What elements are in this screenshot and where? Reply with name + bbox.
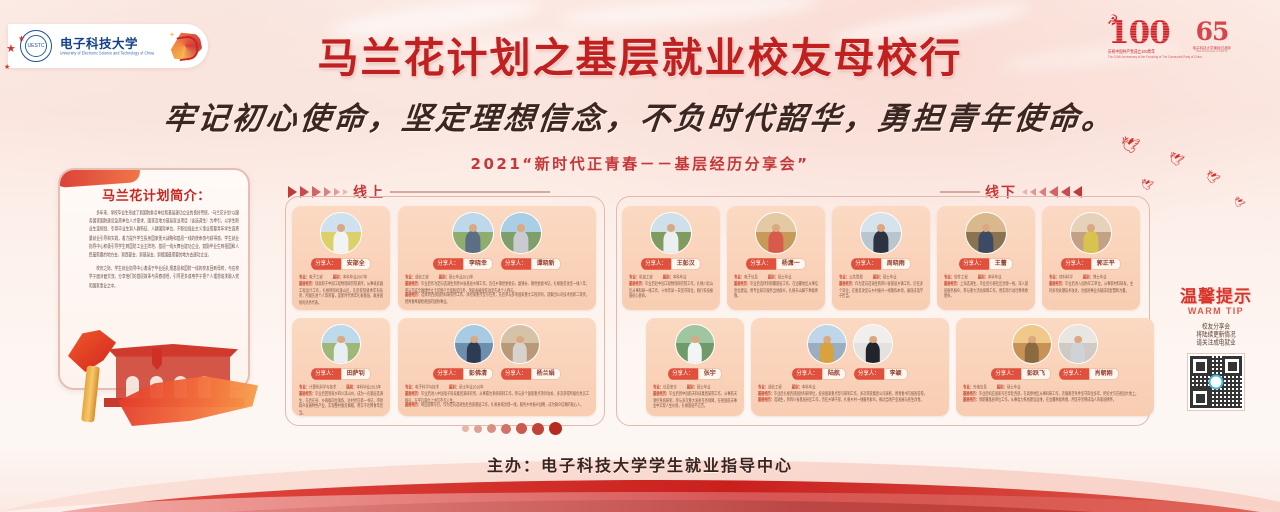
sharer-badge: 分享人： 杨兰娟 <box>501 368 561 380</box>
avatar-head-shape <box>982 224 990 232</box>
avatar-head-shape <box>869 336 877 344</box>
torch-handle-shape <box>81 365 100 422</box>
poster-main-title: 马兰花计划之基层就业校友母校行 <box>0 24 1280 84</box>
sharer-badge: 分享人： 肖朝刚 <box>1059 368 1119 380</box>
avatar-head-shape <box>337 336 345 344</box>
meta-major: 专业：电子科学与技术 <box>405 383 439 390</box>
meta-major: 专业：光电信息 <box>963 383 987 390</box>
qr-code[interactable] <box>1187 353 1245 411</box>
card-paragraph: 基层经历：现就职于中国工程物理研究院某所，从事核武器工程设计工作，扎根绵阳梓潼山… <box>299 281 383 306</box>
plan-introduction-body: 多年来，学校毕业生形成了到国防重点单位和基层建功立业的良好传统，“马兰花计划”以… <box>89 209 239 290</box>
card-body: 基层经历：毕业后回到家乡四川凉山州，成为一名基层选调生，先后在县、乡两级岗位锻炼… <box>297 391 385 409</box>
avatar-person-shape <box>663 231 678 253</box>
avatar <box>755 212 797 254</box>
sharer-badge: 分享人： 李颖 <box>854 368 908 380</box>
star-icon: ★ <box>18 33 25 44</box>
avatar-head-shape <box>1087 224 1095 232</box>
warm-tip-title-en: WARM TIP <box>1160 306 1272 316</box>
sharer-badge-tag: 分享人： <box>1061 258 1091 270</box>
avatar-person-shape <box>513 342 527 363</box>
sharer-badge-tag: 分享人： <box>991 368 1021 380</box>
sharer-badge-tag: 分享人： <box>501 258 531 270</box>
badge-list: 分享人： 安部全 <box>297 258 385 270</box>
warm-tip-line: 请关注成电就业 <box>1160 338 1272 348</box>
sharer-badge: 分享人： 田萨钊 <box>311 368 371 380</box>
avatar-head-shape <box>877 224 885 232</box>
avatar-person-shape <box>768 231 783 253</box>
meta-year: 届别：本科毕业2007年 <box>333 273 368 280</box>
qr-finder-icon <box>1190 356 1210 376</box>
share-card[interactable]: 分享人： 彭佛清 分享人： 杨兰娟 专业：电子科学与技术 届别：硕士毕业2016… <box>398 318 596 416</box>
warm-tip-lines: 校友分享会 将陆续更新情况 请关注成电就业 <box>1160 323 1272 347</box>
sharer-badge: 分享人： 安部全 <box>311 258 371 270</box>
avatar <box>1058 324 1098 364</box>
warm-tip-title-cn: 温馨提示 <box>1160 282 1272 307</box>
badge-list: 分享人： 张宇 <box>651 368 739 380</box>
meta-year: 届别：本科毕业2015年 <box>346 383 381 390</box>
avatar-person-shape <box>1083 231 1098 253</box>
meta-major: 专业：材料科学 <box>1049 273 1073 280</box>
avatar-head-shape <box>469 224 477 232</box>
sharer-badge: 分享人： 周晓雨 <box>851 258 911 270</box>
card-body: 基层经历：毕业后赴中国工程物理研究院工作，扎根川北山区从事科研一线工作，十余年如… <box>627 281 715 295</box>
card-body: 基层经历：毕业后响应国家号召奔赴西部，在高原地区从事科研工作，克服艰苦条件坚守岗… <box>961 391 1149 402</box>
avatar-head-shape <box>470 336 478 344</box>
sharer-badge-tag: 分享人： <box>851 258 881 270</box>
avatar <box>675 324 715 364</box>
share-card[interactable]: 分享人： 田萨钊 专业：计算机科学与技术 届别：本科毕业2015年 基层经历：毕… <box>292 318 390 416</box>
online-row-1: 分享人： 安部全 专业：电子工程 届别：本科毕业2007年 基层经历：现就职于中… <box>292 206 596 310</box>
avatar <box>500 212 542 254</box>
avatar-list <box>297 212 385 254</box>
meta-major: 专业：软件工程 <box>944 273 968 280</box>
card-meta: 专业：计算机科学与技术 届别：本科毕业2015年 <box>297 384 385 389</box>
card-meta: 专业：信息安全 届别：硕士毕业 <box>651 384 739 389</box>
section-rule-line <box>390 191 550 192</box>
avatar-person-shape <box>333 231 348 253</box>
sharer-badge-name: 安部全 <box>341 258 371 270</box>
meta-year: 届别：硕士毕业 <box>873 273 897 280</box>
avatar-head-shape <box>667 224 675 232</box>
card-paragraph: 基层经历：作为定向选调生到四川省基层乡镇工作，历任多个岗位，在脱贫攻坚与乡村振兴… <box>839 281 923 300</box>
share-card[interactable]: 分享人： 安部全 专业：电子工程 届别：本科毕业2007年 基层经历：现就职于中… <box>292 206 390 310</box>
sharer-badge-name: 陆航 <box>822 368 846 380</box>
meta-year: 届别：博士毕业 <box>1083 273 1107 280</box>
share-card[interactable]: 分享人： 李晓幸 分享人： 谭晓新 专业：通信工程 届别：硕士毕业2013年 基… <box>398 206 596 310</box>
sharer-badge-tag: 分享人： <box>854 368 884 380</box>
qr-center-logo-icon <box>1209 375 1224 390</box>
badge-list: 分享人： 彭佛清 分享人： 杨兰娟 <box>403 368 591 380</box>
avatar <box>321 324 361 364</box>
card-body: 基层经历：毕业后作为定向选调生到贵州省基层乡镇工作，历任乡镇党委委员、副镇长、镇… <box>403 281 591 301</box>
meta-year: 届别：硕士毕业 <box>997 383 1021 390</box>
sharer-badge-name: 周晓雨 <box>881 258 911 270</box>
badge-list: 分享人： 李晓幸 分享人： 谭晓新 <box>403 258 591 270</box>
sharer-badge: 分享人： 谭晓新 <box>501 258 561 270</box>
card-meta: 专业：通信工程 届别：本科毕业 <box>756 384 944 389</box>
share-card[interactable]: 分享人： 张宇 专业：信息安全 届别：硕士毕业 基层经历：毕业后到中国航天科技集… <box>646 318 744 416</box>
meta-year: 届别：硕士毕业 <box>768 273 792 280</box>
card-paragraph: 基层经历：选择到西部国防科研院所工作，承担某重点型号任务，先后参与多项国家重大工… <box>405 292 589 304</box>
meta-major: 专业：公共管理 <box>839 273 863 280</box>
avatar-list <box>403 212 591 254</box>
sharer-badge-tag: 分享人： <box>668 368 698 380</box>
badge-list: 分享人： 田萨钊 <box>297 368 385 380</box>
triangle-right-icon <box>334 188 340 196</box>
triangle-right-icon <box>343 189 348 195</box>
card-body: 基层经历：作为定向选调生到四川省基层乡镇工作，历任多个岗位，在脱贫攻坚与乡村振兴… <box>837 281 925 295</box>
sharer-badge-name: 杨潇一 <box>776 258 806 270</box>
meta-major: 专业：电子信息 <box>734 273 758 280</box>
avatar <box>853 324 893 364</box>
sharer-badge: 分享人： 李晓幸 <box>433 258 493 270</box>
avatar-head-shape <box>337 224 345 232</box>
avatar-list <box>756 324 944 364</box>
meta-major: 专业：通信工程 <box>405 273 429 280</box>
poster-subtitle-slogan: 牢记初心使命，坚定理想信念，不负时代韶华，勇担青年使命。 <box>0 93 1280 138</box>
flying-bird-icon: 🕊 <box>1138 176 1155 194</box>
avatar <box>650 212 692 254</box>
sharer-badge: 分享人： 郭正平 <box>1061 258 1121 270</box>
sharer-badge-name: 郭正平 <box>1091 258 1121 270</box>
triangle-left-icon <box>1022 189 1027 195</box>
card-meta: 专业：电子信息 届别：硕士毕业 <box>732 274 820 279</box>
meta-major: 专业：信息安全 <box>653 383 677 390</box>
sharer-badge-name: 杨兰娟 <box>531 368 561 380</box>
avatar-person-shape <box>820 342 834 363</box>
meta-major: 专业：电子工程 <box>299 273 323 280</box>
avatar <box>965 212 1007 254</box>
sharer-badge-name: 田萨钊 <box>341 368 371 380</box>
poster-canvas: UESTC 电子科技大学 University of Electronic Sc… <box>0 0 1280 512</box>
sharer-badge-name: 李晓幸 <box>463 258 493 270</box>
card-meta: 专业：软件工程 届别：本科毕业 <box>942 274 1030 279</box>
share-card[interactable]: 分享人： 周晓雨 专业：公共管理 届别：硕士毕业 基层经历：作为定向选调生到四川… <box>832 206 930 310</box>
avatar-list <box>627 212 715 254</box>
meta-major: 专业：通信工程 <box>758 383 782 390</box>
avatar-head-shape <box>517 224 525 232</box>
card-meta: 专业：公共管理 届别：硕士毕业 <box>837 274 925 279</box>
avatar <box>1012 324 1052 364</box>
meta-year: 届别：硕士毕业 <box>687 383 711 390</box>
avatar-person-shape <box>688 342 702 363</box>
badge-list: 分享人： 王蕾 <box>942 258 1030 270</box>
meta-year: 届别：本科毕业 <box>663 273 687 280</box>
avatar <box>454 324 494 364</box>
flying-bird-icon: 🕊 <box>1229 194 1247 213</box>
card-meta: 专业：材料科学 届别：博士毕业 <box>1047 274 1135 279</box>
sharer-badge: 分享人： 陆航 <box>792 368 846 380</box>
card-paragraph: 基层经历：毕业后选择到新疆基层工作，在边疆地区从事信息化建设，用专业知识服务当地… <box>734 281 818 300</box>
avatar-head-shape <box>1028 336 1036 344</box>
share-card[interactable]: 分享人： 王蕾 专业：软件工程 届别：本科毕业 基层经历：上海选调生，毕业后扎根… <box>937 206 1035 310</box>
organizer-line: 主办：电子科技大学学生就业指导中心 <box>0 452 1280 476</box>
avatar-head-shape <box>516 336 524 344</box>
sharer-badge: 分享人： 张宇 <box>668 368 722 380</box>
card-meta: 专业：电子科学与技术 届别：硕士毕业2016年 <box>403 384 591 389</box>
avatar-list <box>1047 212 1135 254</box>
avatar-list <box>942 212 1030 254</box>
avatar-head-shape <box>1074 336 1082 344</box>
star-icon: ★ <box>6 44 16 55</box>
sharer-badge-tag: 分享人： <box>433 258 463 270</box>
sharer-badge-name: 王蕾 <box>989 258 1013 270</box>
warm-tip-block: 温馨提示 WARM TIP 校友分享会 将陆续更新情况 请关注成电就业 <box>1160 282 1272 411</box>
badge-list: 分享人： 陆航 分享人： 李颖 <box>756 368 944 380</box>
share-card[interactable]: 分享人： 杨潇一 专业：电子信息 届别：硕士毕业 基层经历：毕业后选择到新疆基层… <box>727 206 825 310</box>
meta-major: 专业：计算机科学与技术 <box>299 383 336 390</box>
avatar-head-shape <box>823 336 831 344</box>
card-body: 基层经历：毕业后选择到新疆基层工作，在边疆地区从事信息化建设，用专业知识服务当地… <box>732 281 820 295</box>
sharer-badge-tag: 分享人： <box>792 368 822 380</box>
badge-list: 分享人： 周晓雨 <box>837 258 925 270</box>
qr-finder-icon <box>1190 388 1210 408</box>
card-paragraph: 基层经历：毕业后赴中国工程物理研究院工作，扎根川北山区从事科研一线工作，十余年如… <box>629 281 713 300</box>
card-body: 基层经历：毕业后扎根西部国防科研单位，投身国家重点型号研制工作，多次荣获集团公司… <box>756 391 944 402</box>
avatar <box>807 324 847 364</box>
online-row-2: 分享人： 田萨钊 专业：计算机科学与技术 届别：本科毕业2015年 基层经历：毕… <box>292 318 596 416</box>
offline-row-2: 分享人： 张宇 专业：信息安全 届别：硕士毕业 基层经历：毕业后到中国航天科技集… <box>646 318 1154 416</box>
avatar-person-shape <box>1071 342 1085 363</box>
card-body: 基层经历：毕业后进入中国电子科技集团某研究所，从事雷达系统研制工作，参与多个国家… <box>403 391 591 406</box>
sharer-badge-name: 谭晓新 <box>531 258 561 270</box>
sharer-badge-tag: 分享人： <box>311 368 341 380</box>
section-rule-line <box>940 191 980 192</box>
badge-list: 分享人： 杨潇一 <box>732 258 820 270</box>
sharer-badge-tag: 分享人： <box>746 258 776 270</box>
share-card[interactable]: 分享人： 陆航 分享人： 李颖 专业：通信工程 届别：本科毕业 基层经历：毕业后… <box>751 318 949 416</box>
plan-introduction-title: 马兰花计划简介： <box>77 185 236 204</box>
avatar-head-shape <box>772 224 780 232</box>
sharer-badge: 分享人： 杨潇一 <box>746 258 806 270</box>
avatar-person-shape <box>465 231 480 253</box>
card-meta: 专业：电子工程 届别：本科毕业2007年 <box>297 274 385 279</box>
avatar-person-shape <box>873 231 888 253</box>
avatar-list <box>651 324 739 364</box>
sharer-badge-name: 肖朝刚 <box>1089 368 1119 380</box>
share-card[interactable]: 分享人： 王彭汉 专业：机械工程 届别：本科毕业 基层经历：毕业后赴中国工程物理… <box>622 206 720 310</box>
badge-list: 分享人： 彭跃飞 分享人： 肖朝刚 <box>961 368 1149 380</box>
share-card[interactable]: 分享人： 郭正平 专业：材料科学 届别：博士毕业 基层经历：毕业后进入国防军工单… <box>1042 206 1140 310</box>
card-paragraph: 基层经历：毕业后进入国防军工单位，从事新材料研发，主持多项关键技术攻关，为国防事… <box>1049 281 1133 293</box>
avatar-list <box>732 212 820 254</box>
intro-paragraph: 校庆之际，学生就业指导中心邀请于毕业后扎根基层和国防一线的校友回到母校，与在校学… <box>89 265 239 290</box>
card-meta: 专业：光电信息 届别：硕士毕业 <box>961 384 1149 389</box>
sharer-badge-tag: 分享人： <box>1059 368 1089 380</box>
card-paragraph: 基层经历：上海选调生，毕业后扎根社区治理一线，深入基层服务群众，参与重大活动保障… <box>944 281 1028 300</box>
avatar-person-shape <box>513 231 528 253</box>
sharer-badge-name: 彭佛清 <box>463 368 493 380</box>
share-card[interactable]: 分享人： 彭跃飞 分享人： 肖朝刚 专业：光电信息 届别：硕士毕业 基层经历：毕… <box>956 318 1154 416</box>
avatar <box>500 324 540 364</box>
badge-list: 分享人： 王彭汉 <box>627 258 715 270</box>
sharer-badge-tag: 分享人： <box>641 258 671 270</box>
avatar <box>320 212 362 254</box>
avatar <box>1070 212 1112 254</box>
avatar-list <box>961 324 1149 364</box>
avatar-list <box>403 324 591 364</box>
card-paragraph: 基层经历：毕业后到中国航天科技集团某院工作，从事航天测控系统研制，参与多次重大发… <box>653 391 737 410</box>
card-meta: 专业：通信工程 届别：硕士毕业2013年 <box>403 274 591 279</box>
torch-decoration <box>62 330 120 422</box>
flying-bird-icon: 🕊 <box>1118 136 1140 155</box>
card-body: 基层经历：毕业后进入国防军工单位，从事新材料研发，主持多项关键技术攻关，为国防事… <box>1047 281 1135 290</box>
avatar-person-shape <box>978 231 993 253</box>
sharer-badge-name: 李颖 <box>884 368 908 380</box>
avatar <box>860 212 902 254</box>
avatar-person-shape <box>866 342 880 363</box>
card-body: 基层经历：上海选调生，毕业后扎根社区治理一线，深入基层服务群众，参与重大活动保障… <box>942 281 1030 295</box>
star-icon: ★ <box>4 62 10 73</box>
avatar-head-shape <box>691 336 699 344</box>
meta-year: 届别：硕士毕业2016年 <box>449 383 484 390</box>
sharer-badge-tag: 分享人： <box>501 368 531 380</box>
card-meta: 专业：机械工程 届别：本科毕业 <box>627 274 715 279</box>
badge-list: 分享人： 郭正平 <box>1047 258 1135 270</box>
sharer-badge: 分享人： 彭佛清 <box>433 368 493 380</box>
sharer-badge-tag: 分享人： <box>959 258 989 270</box>
sharer-badge-tag: 分享人： <box>433 368 463 380</box>
card-paragraph: 基层经历：选调生，到四川省基层县区工作，历任乡镇干部，扎根乡村一线服务群众，推动… <box>758 397 942 403</box>
avatar-list <box>297 324 385 364</box>
card-paragraph: 基层经历：响应国家号召，作为定向选调生赴西部基层工作，扎根县域治理一线，服务乡村… <box>405 402 589 408</box>
meta-year: 届别：硕士毕业2013年 <box>439 273 474 280</box>
meta-year: 届别：本科毕业 <box>978 273 1002 280</box>
intro-paragraph: 多年来，学校毕业生形成了到国防重点单位和基层建功立业的良好传统，“马兰花计划”以… <box>89 209 239 259</box>
avatar-person-shape <box>467 342 481 363</box>
card-paragraph: 基层经历：到新疆基层单位工作，从事电力系统建设运维，在边疆奉献青春，用坚守诠释成… <box>963 397 1147 403</box>
card-body: 基层经历：现就职于中国工程物理研究院某所，从事核武器工程设计工作，扎根绵阳梓潼山… <box>297 281 385 299</box>
sharer-badge-name: 彭跃飞 <box>1021 368 1051 380</box>
qr-finder-icon <box>1222 356 1242 376</box>
meta-year: 届别：本科毕业 <box>792 383 816 390</box>
sharer-badge: 分享人： 王彭汉 <box>641 258 701 270</box>
card-body: 基层经历：毕业后到中国航天科技集团某院工作，从事航天测控系统研制，参与多次重大发… <box>651 391 739 405</box>
avatar-person-shape <box>1025 342 1039 363</box>
avatar-person-shape <box>334 342 348 363</box>
sharer-badge-name: 张宇 <box>698 368 722 380</box>
sharer-badge: 分享人： 彭跃飞 <box>991 368 1051 380</box>
offline-row-1: 分享人： 王彭汉 专业：机械工程 届别：本科毕业 基层经历：毕业后赴中国工程物理… <box>622 206 1140 310</box>
avatar-list <box>837 212 925 254</box>
sharer-badge: 分享人： 王蕾 <box>959 258 1013 270</box>
qr-code-matrix <box>1190 356 1242 408</box>
sharer-badge-tag: 分享人： <box>311 258 341 270</box>
triangle-left-icon <box>1030 188 1036 196</box>
avatar <box>452 212 494 254</box>
card-paragraph: 基层经历：毕业后回到家乡四川凉山州，成为一名基层选调生，先后在县、乡两级岗位锻炼… <box>299 391 383 416</box>
meta-major: 专业：机械工程 <box>629 273 653 280</box>
sharer-badge-name: 王彭汉 <box>671 258 701 270</box>
